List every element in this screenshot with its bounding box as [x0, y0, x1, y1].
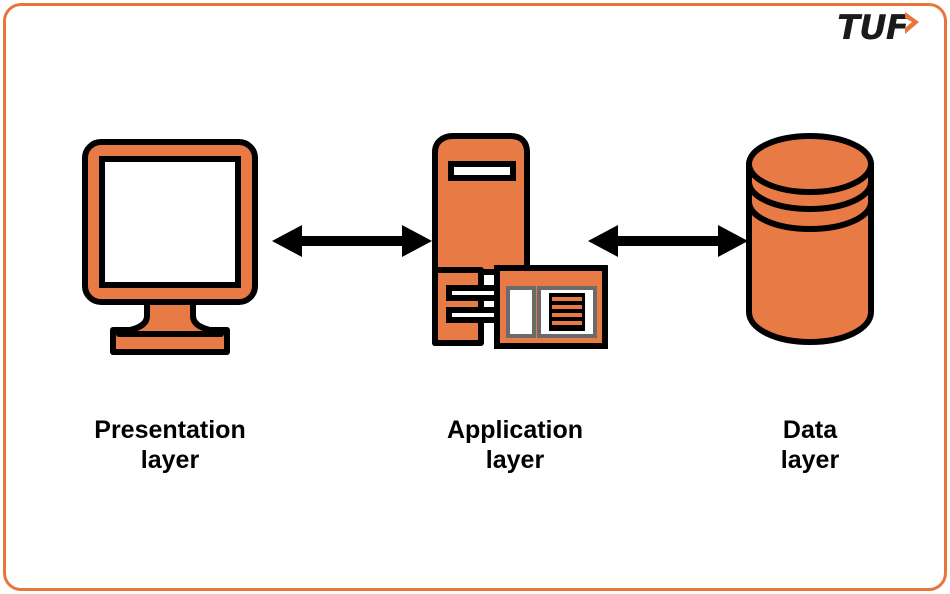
- tuf-logo-text: TUF: [837, 11, 908, 45]
- diagram-canvas: TUF Presentation layer: [0, 0, 950, 594]
- layer-data: Data layer: [690, 130, 930, 475]
- monitor-icon-wrap: [50, 130, 290, 365]
- server-tower-icon: [415, 130, 615, 365]
- chevron-right-icon: [902, 10, 922, 36]
- layer-label-application: Application layer: [395, 415, 635, 475]
- layer-application: Application layer: [395, 130, 635, 475]
- database-cylinder-icon: [735, 130, 885, 365]
- tuf-logo: TUF: [837, 8, 922, 48]
- monitor-icon: [75, 130, 265, 365]
- layer-presentation: Presentation layer: [50, 130, 290, 475]
- layer-label-presentation: Presentation layer: [50, 415, 290, 475]
- layer-label-data: Data layer: [690, 415, 930, 475]
- database-cylinder-icon-wrap: [690, 130, 930, 365]
